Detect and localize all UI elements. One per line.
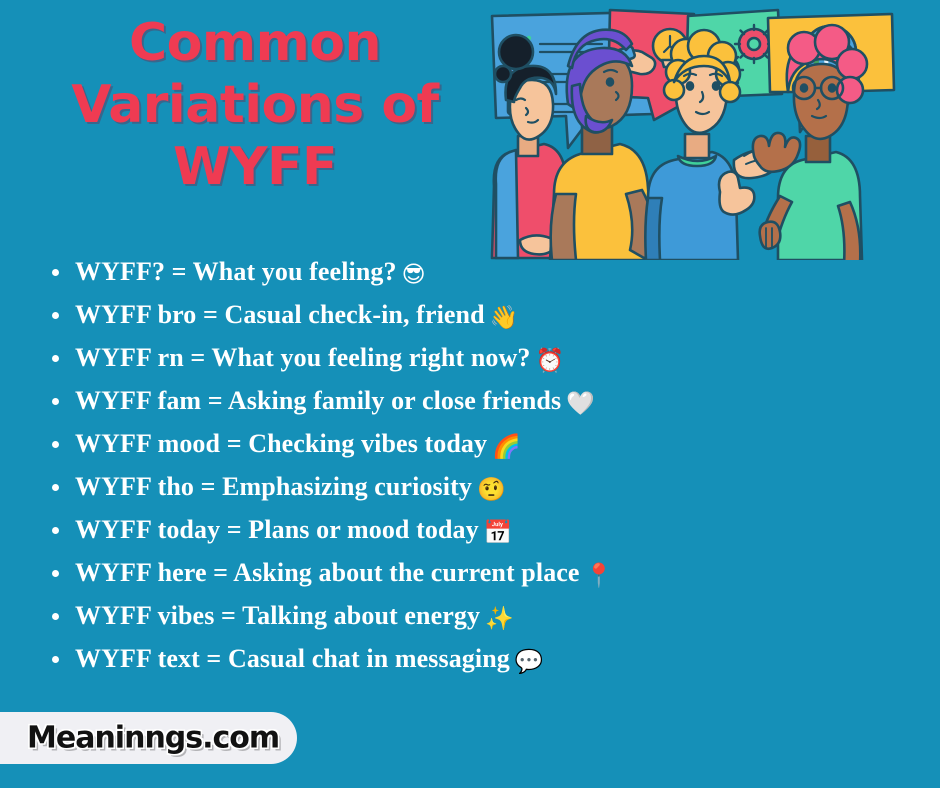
list-item: WYFF tho = Emphasizing curiosity🤨 bbox=[40, 465, 920, 508]
face-with-raised-eyebrow-emoji: 🤨 bbox=[472, 477, 506, 503]
bullet-marker bbox=[52, 570, 59, 577]
white-heart-emoji: 🤍 bbox=[561, 391, 595, 417]
title-line-3: WYFF bbox=[40, 136, 470, 198]
watermark-text: Meaninngs.com bbox=[27, 721, 279, 756]
list-item-text: WYFF today = Plans or mood today bbox=[75, 515, 479, 544]
list-item: WYFF? = What you feeling?😎 bbox=[40, 250, 920, 293]
bullet-marker bbox=[52, 441, 59, 448]
watermark-pill: Meaninngs.com bbox=[0, 712, 297, 764]
bullet-marker bbox=[52, 613, 59, 620]
speech-balloon-emoji: 💬 bbox=[510, 649, 544, 675]
list-item: WYFF fam = Asking family or close friend… bbox=[40, 379, 920, 422]
bullet-marker bbox=[52, 355, 59, 362]
title-line-1: Common bbox=[40, 12, 470, 74]
calendar-emoji: 📅 bbox=[479, 520, 513, 546]
list-item-text: WYFF here = Asking about the current pla… bbox=[75, 558, 580, 587]
list-item-text: WYFF fam = Asking family or close friend… bbox=[75, 386, 561, 415]
alarm-clock-emoji: ⏰ bbox=[530, 348, 564, 374]
sparkles-emoji: ✨ bbox=[480, 606, 514, 632]
page-title: Common Variations of WYFF bbox=[40, 12, 470, 198]
list-item: WYFF text = Casual chat in messaging💬 bbox=[40, 637, 920, 680]
list-item: WYFF here = Asking about the current pla… bbox=[40, 551, 920, 594]
list-item-text: WYFF mood = Checking vibes today bbox=[75, 429, 487, 458]
list-item-text: WYFF vibes = Talking about energy bbox=[75, 601, 480, 630]
round-pushpin-emoji: 📍 bbox=[580, 563, 614, 589]
list-item: WYFF bro = Casual check-in, friend👋 bbox=[40, 293, 920, 336]
variations-list: WYFF? = What you feeling?😎 WYFF bro = Ca… bbox=[40, 250, 920, 680]
list-item: WYFF rn = What you feeling right now?⏰ bbox=[40, 336, 920, 379]
list-item-text: WYFF bro = Casual check-in, friend bbox=[75, 300, 485, 329]
title-line-2: Variations of bbox=[40, 74, 470, 136]
list-item-text: WYFF text = Casual chat in messaging bbox=[75, 644, 510, 673]
bullet-marker bbox=[52, 269, 59, 276]
waving-hand-emoji: 👋 bbox=[485, 305, 519, 331]
group-conversation-illustration bbox=[482, 8, 934, 260]
list-item-text: WYFF tho = Emphasizing curiosity bbox=[75, 472, 472, 501]
bullet-marker bbox=[52, 527, 59, 534]
bullet-marker bbox=[52, 398, 59, 405]
rainbow-emoji: 🌈 bbox=[487, 434, 521, 460]
list-item: WYFF today = Plans or mood today📅 bbox=[40, 508, 920, 551]
list-item: WYFF vibes = Talking about energy✨ bbox=[40, 594, 920, 637]
bullet-marker bbox=[52, 312, 59, 319]
infographic-canvas: Common Variations of WYFF bbox=[0, 0, 940, 788]
bullet-marker bbox=[52, 656, 59, 663]
smiling-face-with-sunglasses-emoji: 😎 bbox=[397, 262, 426, 288]
list-item: WYFF mood = Checking vibes today🌈 bbox=[40, 422, 920, 465]
list-item-text: WYFF rn = What you feeling right now? bbox=[75, 343, 530, 372]
bullet-marker bbox=[52, 484, 59, 491]
list-item-text: WYFF? = What you feeling? bbox=[75, 257, 397, 286]
